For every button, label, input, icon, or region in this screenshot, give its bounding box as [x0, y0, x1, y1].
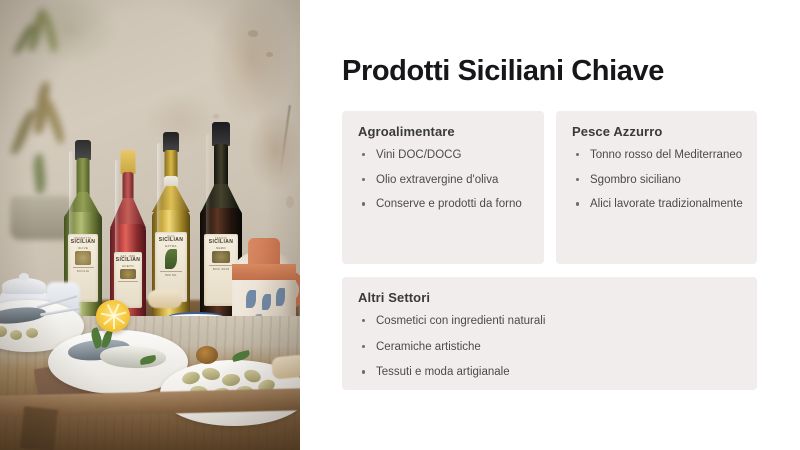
- card-heading: Agroalimentare: [358, 124, 455, 139]
- bread-slice: [148, 290, 182, 308]
- card-heading: Altri Settori: [358, 290, 430, 305]
- list-item: Conserve e prodotti da forno: [358, 196, 532, 213]
- list-item: Olio extravergine d'oliva: [358, 172, 532, 189]
- table-leg: [20, 406, 58, 450]
- potato-piece: [10, 330, 22, 340]
- card-altri-settori: Altri Settori Cosmetici con ingredienti …: [342, 277, 757, 390]
- list-item: Ceramiche artistiche: [358, 339, 745, 356]
- plant-pot: [10, 196, 72, 240]
- slide-photo: PRODOTTO SICILIAN OLIVE SICILIA EST. 189…: [0, 0, 300, 450]
- page-title: Prodotti Siciliani Chiave: [342, 56, 772, 88]
- list-item: Alici lavorate tradizionalmente: [572, 196, 745, 213]
- potato-piece: [26, 328, 38, 338]
- slide-content: Prodotti Siciliani Chiave Agroalimentare…: [342, 0, 800, 450]
- wall-speck: [286, 196, 294, 208]
- list-item: Sgombro siciliano: [572, 172, 745, 189]
- list-item: Tessuti e moda artigianale: [358, 364, 745, 381]
- card-heading: Pesce Azzurro: [572, 124, 662, 139]
- wall-speck: [213, 114, 219, 119]
- olive-single: [196, 346, 218, 364]
- list-item: Tonno rosso del Mediterraneo: [572, 147, 745, 164]
- wall-speck: [266, 52, 273, 57]
- lemon-half: [96, 300, 130, 332]
- card-list: Vini DOC/DOCG Olio extravergine d'oliva …: [358, 147, 532, 221]
- wall-speck: [248, 30, 258, 37]
- card-agroalimentare: Agroalimentare Vini DOC/DOCG Olio extrav…: [342, 111, 544, 264]
- bottle-vinegar: EST. 1890 SICILIAN ACETO: [110, 150, 146, 322]
- card-list: Tonno rosso del Mediterraneo Sgombro sic…: [572, 147, 745, 221]
- card-pesce-azzurro: Pesce Azzurro Tonno rosso del Mediterran…: [556, 111, 757, 264]
- list-item: Vini DOC/DOCG: [358, 147, 532, 164]
- bread-slice: [271, 354, 300, 379]
- list-item: Cosmetici con ingredienti naturali: [358, 313, 745, 330]
- card-list: Cosmetici con ingredienti naturali Ceram…: [358, 313, 745, 390]
